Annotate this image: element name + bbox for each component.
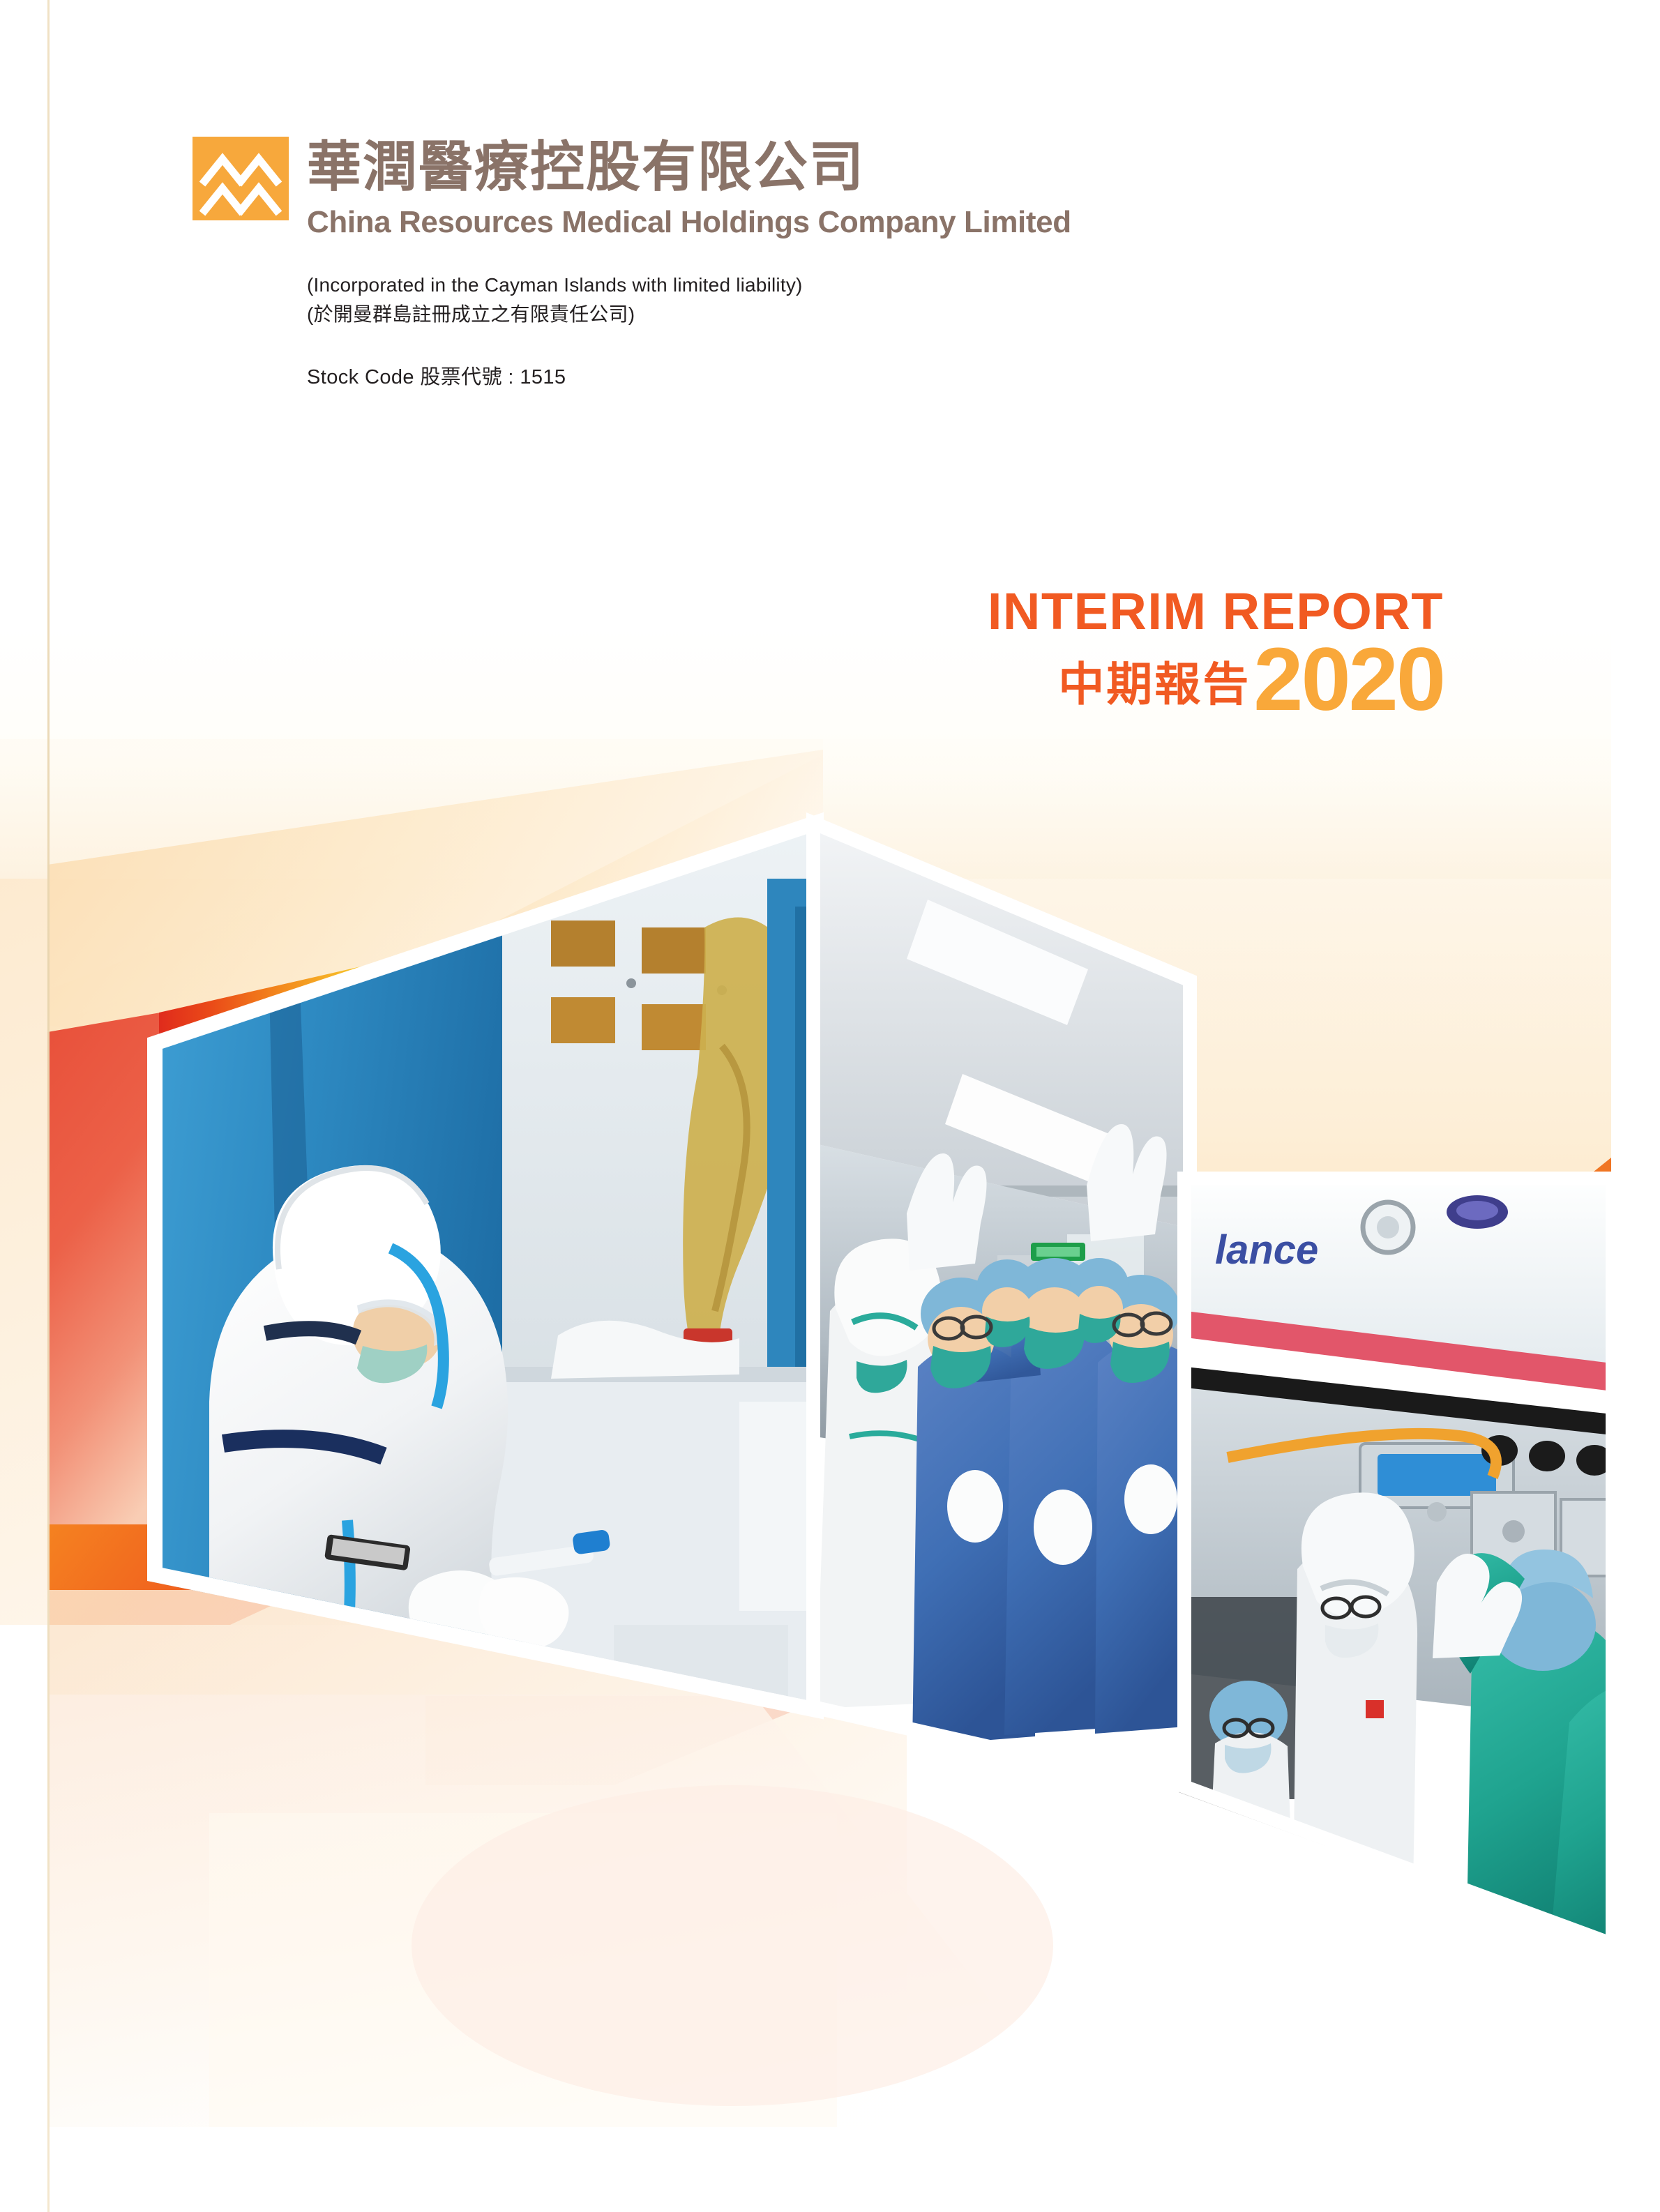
photo-ambulance-panel: lance <box>1179 1172 1660 1965</box>
photo-medical-team-panel <box>809 817 1194 1799</box>
photo-lab-technician-panel <box>151 802 823 1729</box>
brand-names: 華潤醫療控股有限公司 China Resources Medical Holdi… <box>307 137 1071 240</box>
report-title-zh: 中期報告 <box>1058 661 1251 707</box>
brand-row: 華潤醫療控股有限公司 China Resources Medical Holdi… <box>193 137 1378 240</box>
report-title-second-row: 中期報告 2020 <box>988 642 1444 718</box>
stock-code-line: Stock Code 股票代號 : 1515 <box>307 361 1378 390</box>
cr-mountain-logo-icon <box>193 137 289 220</box>
legal-block: (Incorporated in the Cayman Islands with… <box>307 271 1378 390</box>
company-name-zh: 華潤醫療控股有限公司 <box>307 139 1071 195</box>
incorporation-line-en: (Incorporated in the Cayman Islands with… <box>307 271 1378 301</box>
company-identity-block: 華潤醫療控股有限公司 China Resources Medical Holdi… <box>193 137 1378 390</box>
incorporation-line-zh: (於開曼群島註冊成立之有限責任公司) <box>307 300 1378 330</box>
report-title-block: INTERIM REPORT 中期報告 2020 <box>988 586 1444 718</box>
report-year: 2020 <box>1253 642 1444 718</box>
ambulance-text: lance <box>1215 1227 1318 1273</box>
company-name-en: China Resources Medical Holdings Company… <box>307 205 1071 240</box>
report-cover-page: lance <box>0 0 1660 2212</box>
